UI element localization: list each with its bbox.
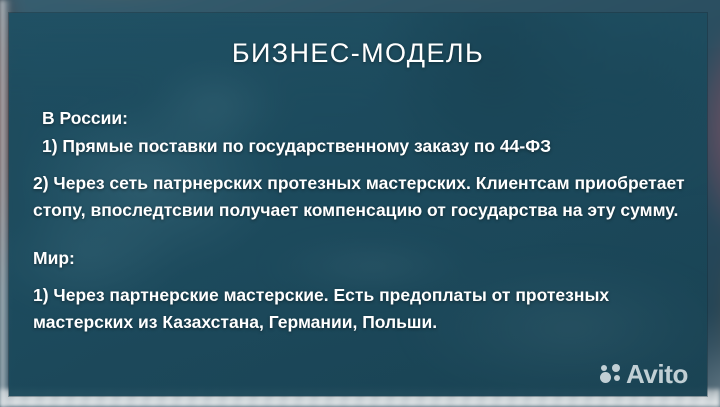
slide-title: БИЗНЕС-МОДЕЛЬ [9, 38, 707, 69]
slide-content: БИЗНЕС-МОДЕЛЬ В России: 1) Прямые постав… [9, 13, 707, 396]
slide-panel: БИЗНЕС-МОДЕЛЬ В России: 1) Прямые постав… [9, 13, 707, 396]
section-world-item-1: 1) Через партнерские мастерские. Есть пр… [33, 282, 689, 336]
section-russia-item-2: 2) Через сеть патрнерских протезных маст… [33, 170, 689, 224]
slide-image: БИЗНЕС-МОДЕЛЬ В России: 1) Прямые постав… [0, 0, 720, 407]
section-heading-world: Мир: [33, 245, 689, 272]
avito-dots-icon [600, 364, 622, 384]
avito-wordmark: Avito [626, 361, 688, 387]
section-russia-item-1: 1) Прямые поставки по государственному з… [42, 133, 689, 160]
slide-body: В России: 1) Прямые поставки по государс… [33, 105, 689, 336]
section-heading-russia: В России: [42, 105, 689, 132]
avito-watermark: Avito [600, 361, 688, 387]
